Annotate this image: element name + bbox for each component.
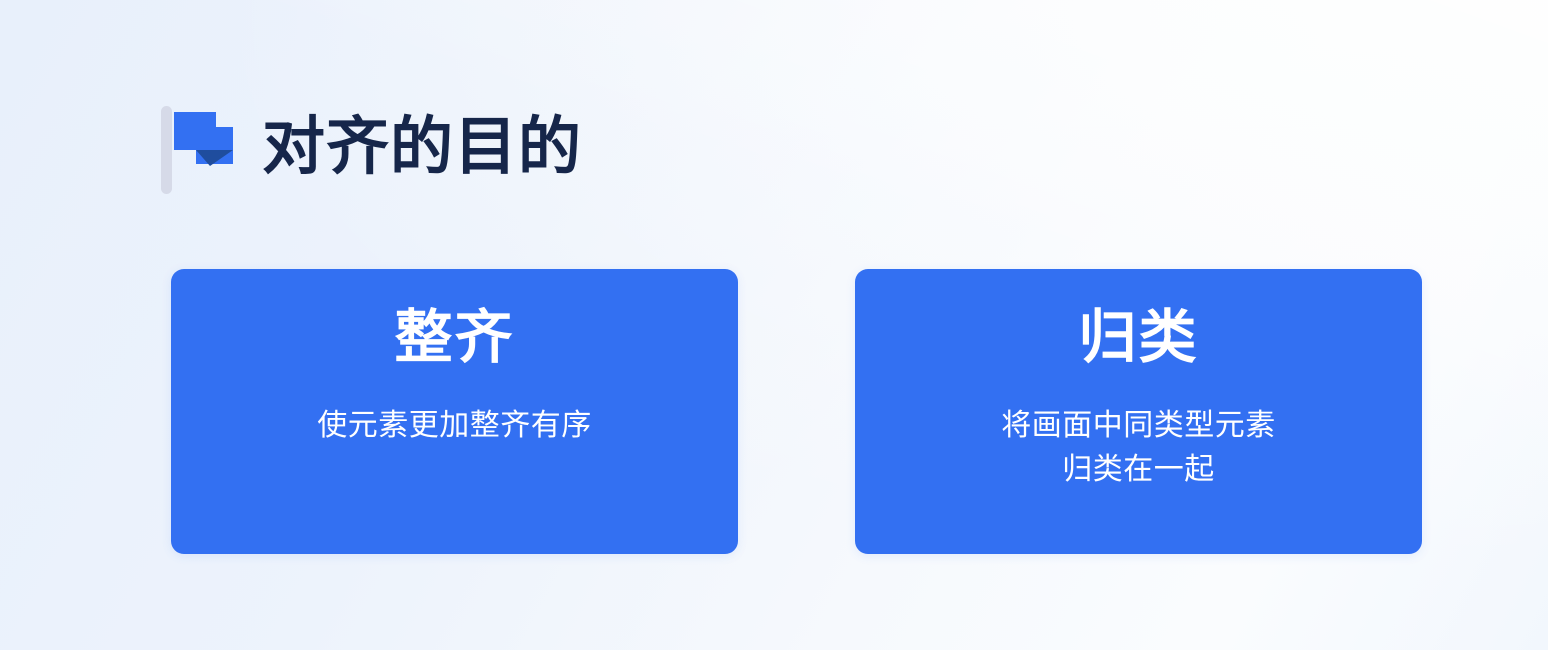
slide-canvas: 对齐的目的 整齐 使元素更加整齐有序 归类 将画面中同类型元素 归类在一起 <box>0 0 1548 650</box>
card-grouping[interactable]: 归类 将画面中同类型元素 归类在一起 <box>855 269 1422 554</box>
slide-header: 对齐的目的 <box>158 104 582 196</box>
card-description: 将画面中同类型元素 归类在一起 <box>1001 404 1276 492</box>
card-description-line: 将画面中同类型元素 <box>1001 404 1276 448</box>
card-title: 归类 <box>1078 307 1198 370</box>
card-title: 整齐 <box>394 307 514 370</box>
card-description: 使元素更加整齐有序 <box>317 404 592 448</box>
flag-icon <box>158 104 240 196</box>
page-title: 对齐的目的 <box>262 116 582 185</box>
card-row: 整齐 使元素更加整齐有序 归类 将画面中同类型元素 归类在一起 <box>171 269 1422 554</box>
card-neat[interactable]: 整齐 使元素更加整齐有序 <box>171 269 738 554</box>
card-description-line: 使元素更加整齐有序 <box>317 404 592 448</box>
card-description-line: 归类在一起 <box>1001 448 1276 492</box>
